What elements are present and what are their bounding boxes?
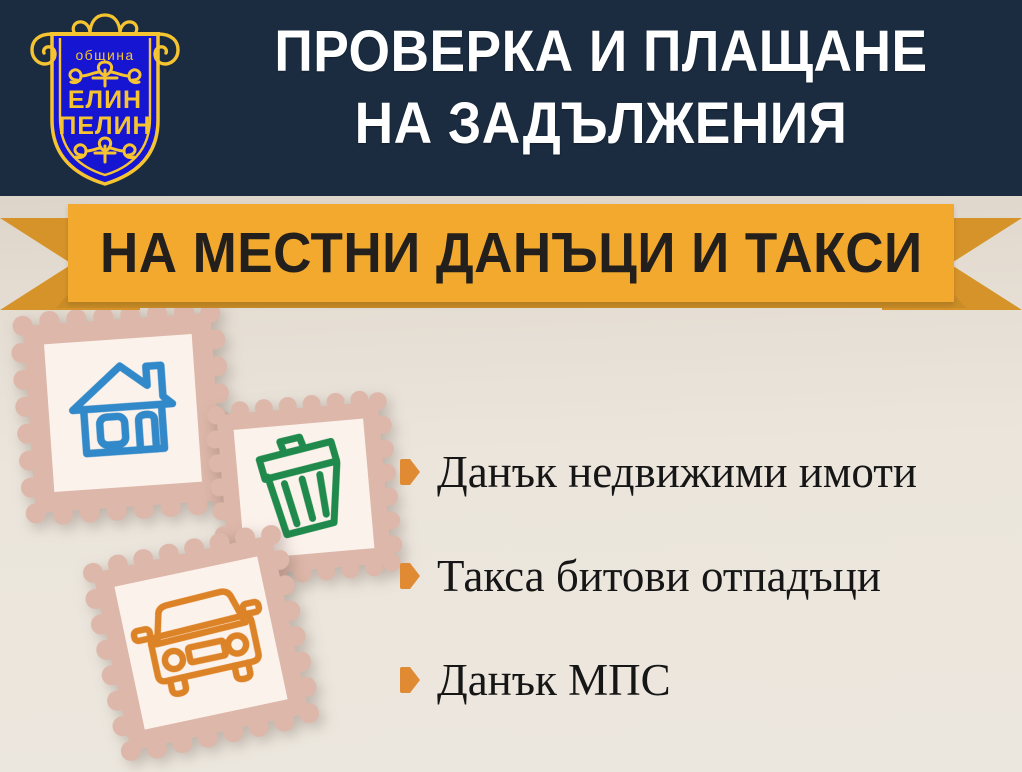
svg-text:ПЕЛИН: ПЕЛИН	[58, 112, 151, 140]
stamp-paper	[44, 334, 202, 492]
stamp-card-car	[78, 520, 325, 767]
list-item[interactable]: Данък МПС	[400, 628, 1015, 732]
poster-root: община ЕЛИН ПЕЛИН	[0, 0, 1022, 772]
page-title: ПРОВЕРКА И ПЛАЩАНЕ НА ЗАДЪЛЖЕНИЯ	[182, 16, 1020, 160]
stamp-card-house	[9, 299, 237, 527]
bullet-arrow-icon	[400, 563, 420, 589]
ribbon-banner: НА МЕСТНИ ДАНЪЦИ И ТАКСИ	[0, 196, 1022, 314]
bullet-arrow-icon	[400, 667, 420, 693]
list-item-label: Такса битови отпадъци	[437, 551, 881, 601]
tax-type-list: Данък недвижими имоти Такса битови отпад…	[400, 420, 1015, 732]
coat-of-arms-icon: община ЕЛИН ПЕЛИН	[30, 8, 180, 190]
list-item[interactable]: Данък недвижими имоти	[400, 420, 1015, 524]
ribbon-center: НА МЕСТНИ ДАНЪЦИ И ТАКСИ	[68, 204, 954, 302]
bullet-arrow-icon	[400, 459, 420, 485]
page-title-line-1: ПРОВЕРКА И ПЛАЩАНЕ	[216, 16, 987, 88]
list-item-label: Данък МПС	[437, 655, 671, 705]
list-item[interactable]: Такса битови отпадъци	[400, 524, 1015, 628]
svg-text:ЕЛИН: ЕЛИН	[68, 86, 142, 114]
page-title-line-2: НА ЗАДЪЛЖЕНИЯ	[216, 88, 987, 160]
ribbon-label: НА МЕСТНИ ДАНЪЦИ И ТАКСИ	[100, 224, 923, 282]
list-item-label: Данък недвижими имоти	[437, 447, 917, 497]
